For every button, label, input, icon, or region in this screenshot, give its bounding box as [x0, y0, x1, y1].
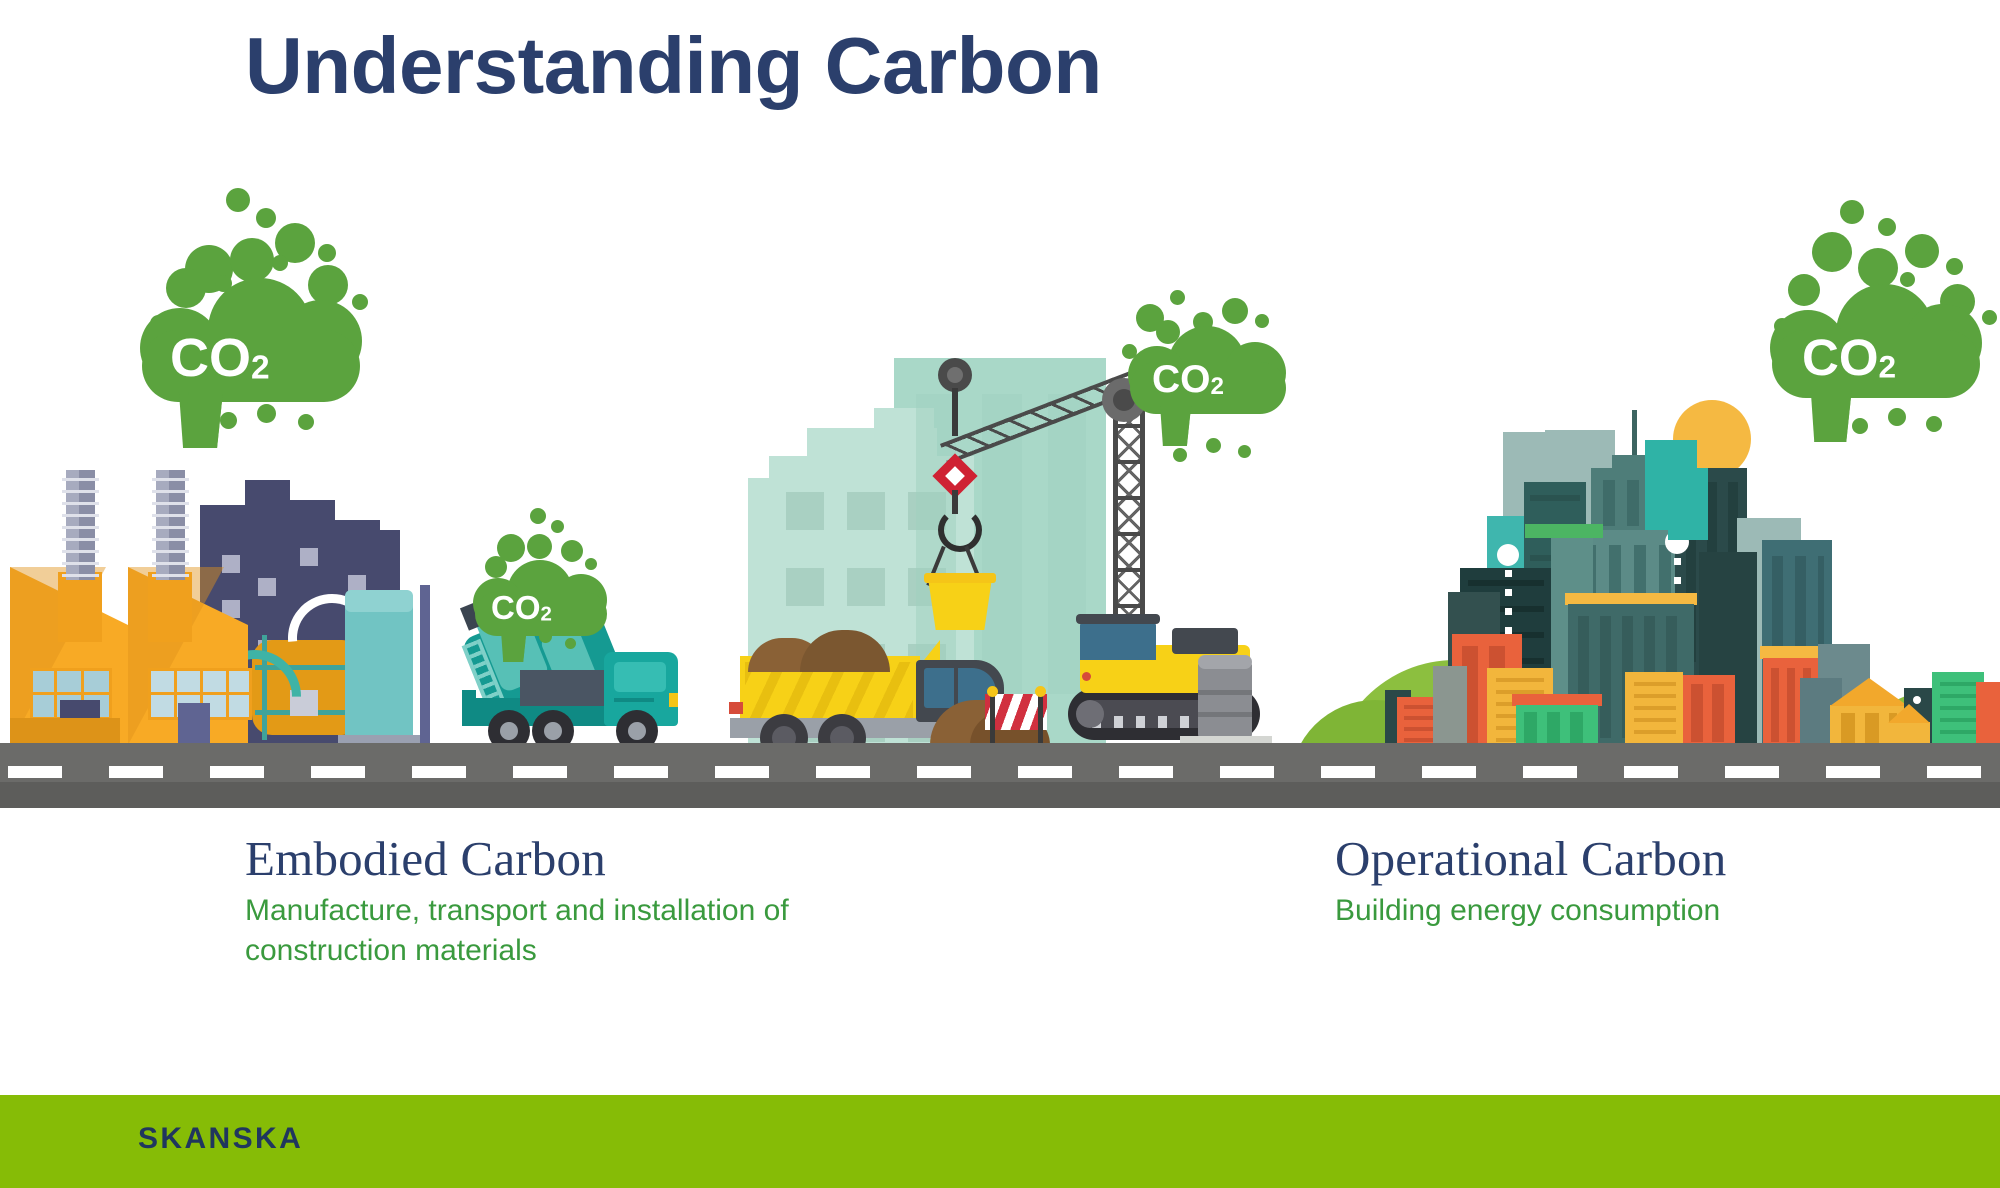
co2-bubble	[220, 412, 237, 429]
city-right-orange-far	[1976, 682, 2000, 748]
mixer-wheel-hub	[544, 722, 562, 740]
lane-dash	[109, 766, 163, 778]
co2-cloud-construction: CO2	[1110, 290, 1320, 480]
embodied-carbon-heading: Embodied Carbon	[245, 830, 905, 887]
lane-dash	[1826, 766, 1880, 778]
co2-label: CO2	[170, 327, 270, 389]
co2-bubble	[1222, 298, 1248, 324]
house-yellow-small-roof	[1888, 704, 1930, 723]
lane-dash	[1119, 766, 1173, 778]
crane-bucket-rim	[924, 573, 996, 583]
co2-bubble	[1852, 418, 1868, 434]
excavator-engine-hood	[1172, 628, 1238, 654]
lane-dash	[1422, 766, 1476, 778]
co2-bubble	[272, 255, 288, 271]
midrise-green-windows	[1524, 712, 1590, 744]
oil-drum-band	[1198, 712, 1252, 717]
co2-cloud-factory: CO2	[100, 180, 390, 440]
co2-bubble	[1812, 232, 1852, 272]
co2-bubble	[585, 558, 597, 570]
mixer-wheel-hub	[500, 722, 518, 740]
co2-label: CO2	[1802, 328, 1896, 387]
co2-bubble	[1170, 290, 1185, 305]
chimney-base-left	[58, 572, 102, 642]
crane-hook	[938, 508, 982, 552]
lane-dash	[715, 766, 769, 778]
city-small-orange-lines	[1404, 705, 1434, 745]
lamp-globe	[1497, 544, 1519, 566]
lane-dash	[614, 766, 668, 778]
crane-bucket	[928, 578, 992, 630]
co2-bubble	[551, 520, 564, 533]
cloud-tail	[1156, 406, 1191, 446]
slide-canvas: Understanding Carbon	[0, 0, 2000, 1188]
mixer-headlight	[669, 693, 678, 707]
co2-bubble	[1206, 438, 1221, 453]
barrier-leg	[1038, 694, 1043, 746]
co2-bubble	[1255, 314, 1269, 328]
cloud-tail	[1805, 390, 1851, 442]
lane-dash	[210, 766, 264, 778]
lane-dash	[1220, 766, 1274, 778]
co2-bubble	[1946, 258, 1963, 275]
road-lane-dashes	[0, 766, 2000, 778]
lane-dash	[1321, 766, 1375, 778]
lane-dash	[412, 766, 466, 778]
co2-bubble	[565, 638, 576, 649]
caption-operational-carbon: Operational Carbon Building energy consu…	[1335, 830, 1726, 931]
city-right-green-lines	[1940, 682, 1976, 740]
mixer-cab-window	[614, 662, 666, 692]
chimney-rungs-right	[152, 478, 189, 578]
road-surface-lower	[0, 782, 2000, 808]
co2-bubble	[257, 404, 276, 423]
lane-dash	[513, 766, 567, 778]
lane-dash	[1018, 766, 1072, 778]
dump-cab-window-divider	[954, 668, 958, 708]
co2-label: CO2	[491, 589, 552, 627]
skanska-logo: SKANSKA	[138, 1122, 303, 1156]
midrise-orange-right2-win	[1691, 684, 1729, 742]
co2-bubble	[352, 294, 368, 310]
co2-bubble	[1238, 445, 1251, 458]
chimney-rungs-left	[62, 478, 99, 578]
oil-drum	[1198, 660, 1252, 740]
oil-drum-band	[1198, 690, 1252, 695]
crane-pulley-inner	[947, 367, 963, 383]
co2-bubble	[256, 208, 276, 228]
lane-dash	[1523, 766, 1577, 778]
cloud-tail	[497, 628, 527, 662]
city-small-grey	[1433, 666, 1467, 748]
co2-bubble	[1888, 408, 1906, 426]
co2-bubble	[1858, 248, 1898, 288]
industrial-window	[258, 578, 276, 596]
city-right-lampdot	[1913, 696, 1921, 704]
midrise-yellow-right-lines	[1634, 682, 1676, 740]
industrial-step-4	[335, 520, 380, 545]
co2-bubble	[485, 556, 507, 578]
co2-bubble	[1878, 218, 1896, 236]
co2-bubble	[527, 534, 552, 559]
co2-bubble	[561, 540, 583, 562]
industrial-window	[300, 548, 318, 566]
teal-silo-top	[345, 590, 413, 612]
city-tower-green-cap	[1525, 524, 1603, 538]
co2-bubble	[1173, 448, 1187, 462]
co2-bubble	[1900, 272, 1915, 287]
silo-ladder	[420, 585, 430, 745]
lane-dash	[311, 766, 365, 778]
co2-bubble	[1788, 274, 1820, 306]
teal-silo	[345, 602, 413, 745]
co2-bubble	[1982, 310, 1997, 325]
operational-carbon-heading: Operational Carbon	[1335, 830, 1726, 887]
lane-dash	[1624, 766, 1678, 778]
excavator-cab	[1080, 620, 1156, 660]
industrial-step-1	[200, 505, 245, 535]
factory-door-right	[178, 703, 210, 745]
spire-mast	[1632, 410, 1637, 458]
factory-ground-shade	[10, 718, 120, 745]
co2-bubble	[1905, 234, 1939, 268]
excavator-light	[1082, 672, 1091, 681]
barrier-light	[1035, 686, 1046, 697]
page-title: Understanding Carbon	[245, 24, 1102, 108]
lane-dash	[816, 766, 870, 778]
lane-dash	[8, 766, 62, 778]
operational-carbon-body: Building energy consumption	[1335, 891, 1726, 931]
co2-cloud-city: CO2	[1740, 200, 2000, 440]
co2-bubble	[530, 508, 546, 524]
co2-bubble	[166, 268, 206, 308]
co2-label: CO2	[1152, 358, 1224, 402]
house-yellow-roof	[1830, 678, 1908, 706]
co2-cloud-mixer: CO2	[455, 498, 635, 658]
co2-bubble	[230, 238, 274, 282]
dump-taillight	[729, 702, 743, 714]
mixer-cab-door	[614, 698, 654, 702]
cloud-tail	[173, 392, 223, 448]
excavator-cab-roof	[1076, 614, 1160, 624]
mixer-wheel-hub	[628, 722, 646, 740]
mixer-bumper	[462, 690, 476, 726]
co2-bubble	[226, 188, 250, 212]
co2-bubble	[308, 265, 348, 305]
lane-dash	[917, 766, 971, 778]
co2-bubble	[1840, 200, 1864, 224]
lane-dash	[1725, 766, 1779, 778]
chimney-base-right	[148, 572, 192, 642]
embodied-carbon-body: Manufacture, transport and installation …	[245, 891, 905, 970]
caption-embodied-carbon: Embodied Carbon Manufacture, transport a…	[245, 830, 905, 970]
crane-cable	[952, 388, 958, 436]
co2-bubble	[1926, 416, 1942, 432]
barrier-leg	[990, 694, 995, 746]
city-tower-bright-teal2	[1668, 468, 1708, 540]
oil-drum-top	[1198, 655, 1252, 669]
industrial-step-3	[290, 500, 335, 535]
lane-dash	[1927, 766, 1981, 778]
industrial-step-2	[245, 480, 290, 535]
barrier-light	[987, 686, 998, 697]
excavator-track-roller	[1076, 700, 1104, 728]
co2-bubble	[298, 414, 314, 430]
co2-bubble	[318, 244, 336, 262]
